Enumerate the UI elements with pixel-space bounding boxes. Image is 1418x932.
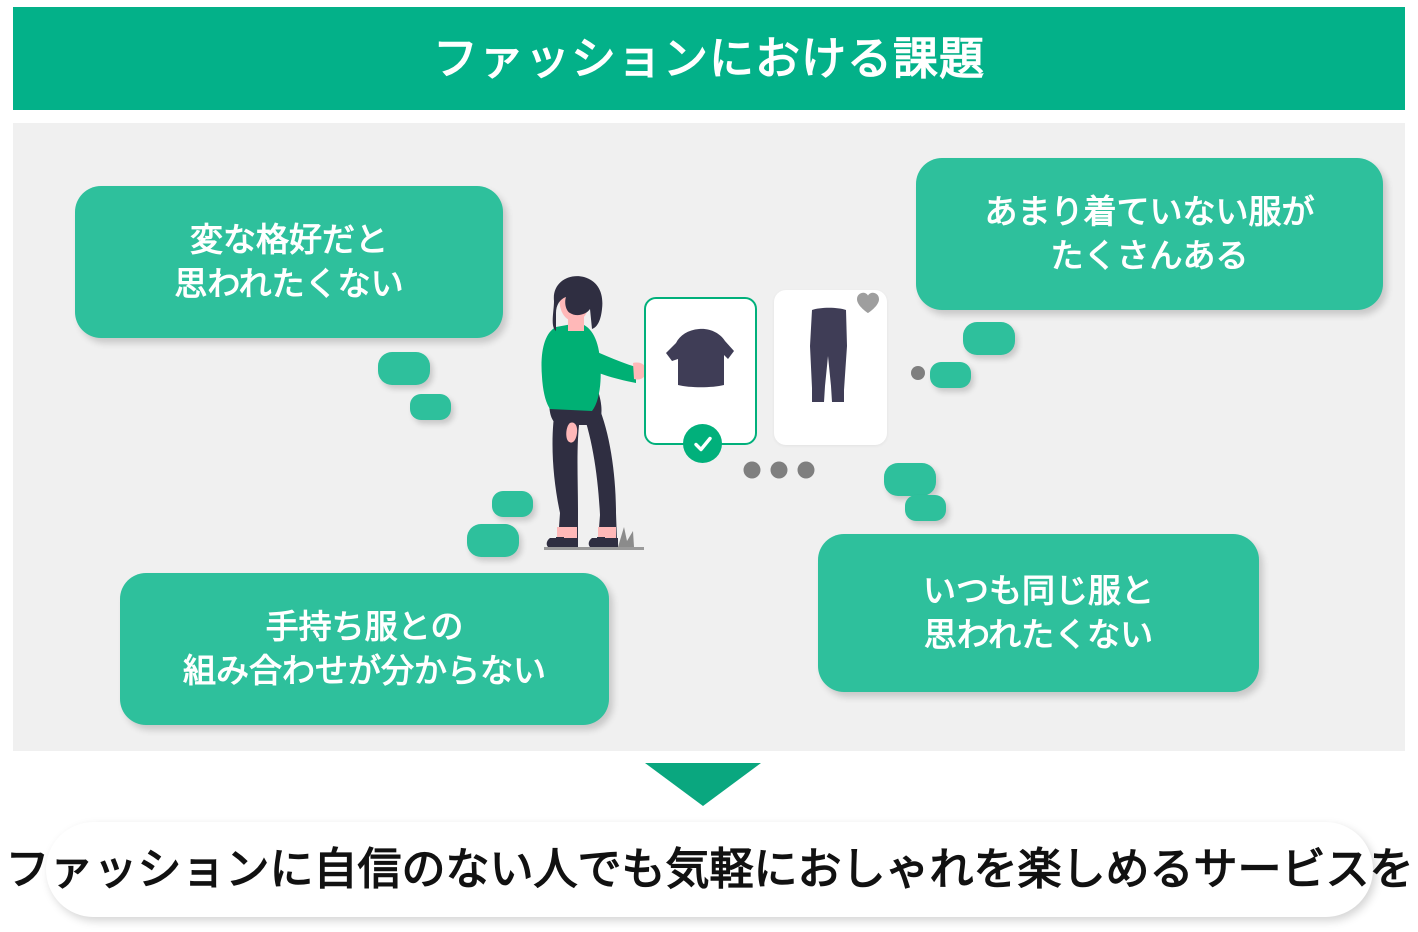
bubble-tail-dot — [492, 491, 533, 517]
down-arrow-icon — [645, 763, 761, 806]
heart-icon[interactable] — [856, 292, 880, 314]
slide-root: ファッションにおける課題 — [0, 0, 1418, 932]
tshirt-icon — [646, 299, 755, 443]
check-badge — [683, 424, 722, 463]
bubble-text: 変な格好だと 思われたくない — [174, 218, 403, 305]
conclusion-text: ファッションに自信のない人でも気軽におしゃれを楽しめるサービスを — [6, 848, 1414, 892]
bubble-tail-dot — [905, 495, 946, 521]
bubble-text: 手持ち服との 組み合わせが分からない — [183, 605, 546, 692]
accent-dot — [911, 366, 925, 380]
carousel-dot — [744, 462, 761, 479]
pants-card[interactable] — [774, 290, 887, 445]
bubble-tail-dot — [930, 362, 971, 388]
leg-front — [580, 405, 617, 541]
conclusion-banner: ファッションに自信のない人でも気軽におしゃれを楽しめるサービスを — [46, 822, 1373, 917]
tshirt-card[interactable] — [644, 297, 757, 445]
ground-line — [544, 547, 644, 550]
header-bar: ファッションにおける課題 — [13, 7, 1405, 110]
bubble-text: あまり着ていない服が たくさんある — [985, 190, 1315, 277]
page-title: ファッションにおける課題 — [433, 36, 985, 81]
bubble-tail-dot — [963, 322, 1015, 355]
carousel-dot — [771, 462, 788, 479]
heel-front — [597, 537, 605, 547]
plant-shape — [618, 527, 634, 547]
content-panel: 変な格好だと 思われたくない あまり着ていない服が たくさんある 手持ち服との … — [13, 123, 1405, 751]
bubble-text: いつも同じ服と 思われたくない — [923, 569, 1154, 656]
carousel-dot — [798, 462, 815, 479]
bubble-tail-dot — [884, 463, 936, 496]
pain-point-bubble-top-left[interactable]: 変な格好だと 思われたくない — [75, 186, 503, 338]
pain-point-bubble-bottom-left[interactable]: 手持ち服との 組み合わせが分からない — [120, 573, 609, 725]
bubble-tail-dot — [378, 352, 430, 385]
heel-back — [556, 537, 564, 547]
check-icon — [692, 433, 714, 455]
bubble-tail-dot — [467, 524, 519, 557]
bubble-tail-dot — [410, 394, 451, 420]
pain-point-bubble-top-right[interactable]: あまり着ていない服が たくさんある — [916, 158, 1383, 310]
pain-point-bubble-bottom-right[interactable]: いつも同じ服と 思われたくない — [818, 534, 1259, 692]
